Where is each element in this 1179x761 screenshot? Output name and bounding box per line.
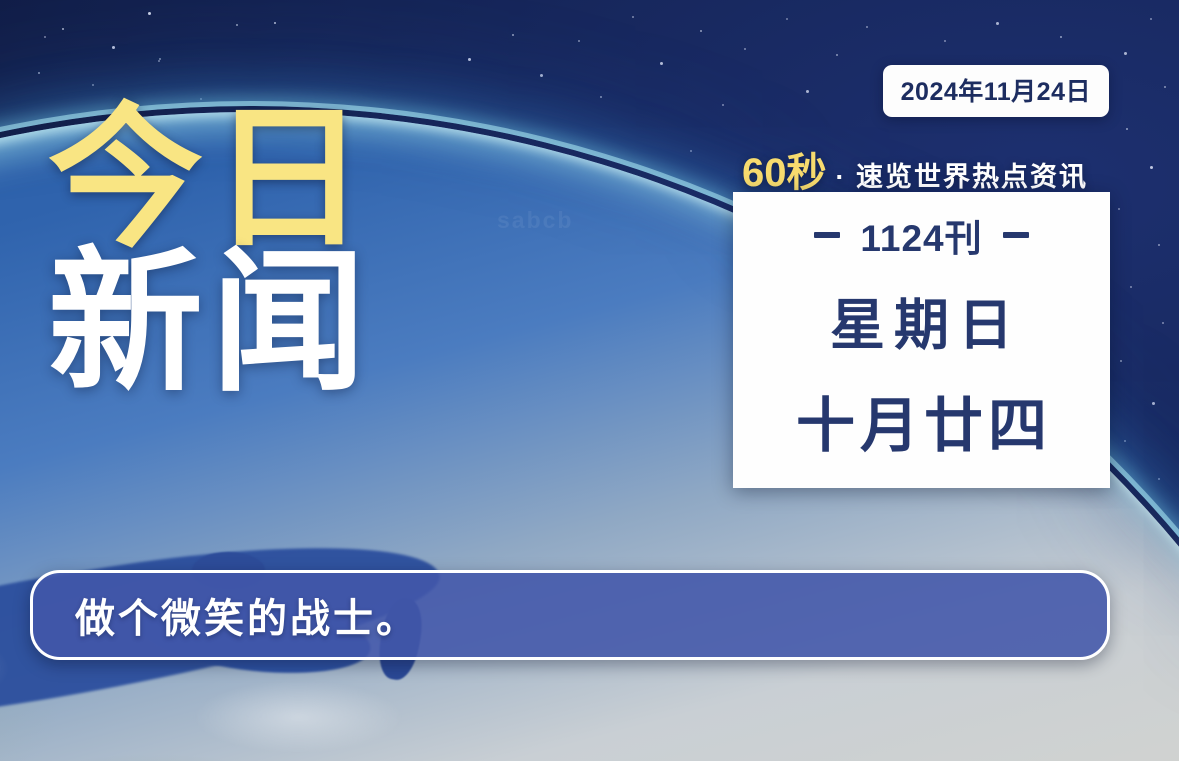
issue-number-row: 1124刊 <box>814 208 1028 262</box>
dash-left-icon <box>814 232 840 238</box>
page-title: 今日 新闻 <box>48 104 374 399</box>
quote-bar: 做个微笑的战士。 <box>30 570 1110 660</box>
title-line-news: 新闻 <box>48 248 374 398</box>
tagline-seconds: 60秒 <box>742 140 827 198</box>
lunar-date-label: 十月廿四 <box>791 378 1052 463</box>
date-badge: 2024年11月24日 <box>883 65 1109 117</box>
tagline-text: · 速览世界热点资讯 <box>836 155 1089 194</box>
title-line-today: 今日 <box>48 104 374 254</box>
dash-right-icon <box>1003 232 1029 238</box>
news-poster: sabcb 2024年11月24日 今日 新闻 60秒 · 速览世界热点资讯 1… <box>0 0 1179 761</box>
background-watermark: sabcb <box>497 207 573 234</box>
tagline: 60秒 · 速览世界热点资讯 <box>742 140 1088 198</box>
issue-number: 1124刊 <box>860 208 982 262</box>
issue-info-card: 1124刊 星期日 十月廿四 <box>733 192 1110 488</box>
weekday-label: 星期日 <box>821 280 1022 360</box>
quote-text: 做个微笑的战士。 <box>33 586 419 644</box>
